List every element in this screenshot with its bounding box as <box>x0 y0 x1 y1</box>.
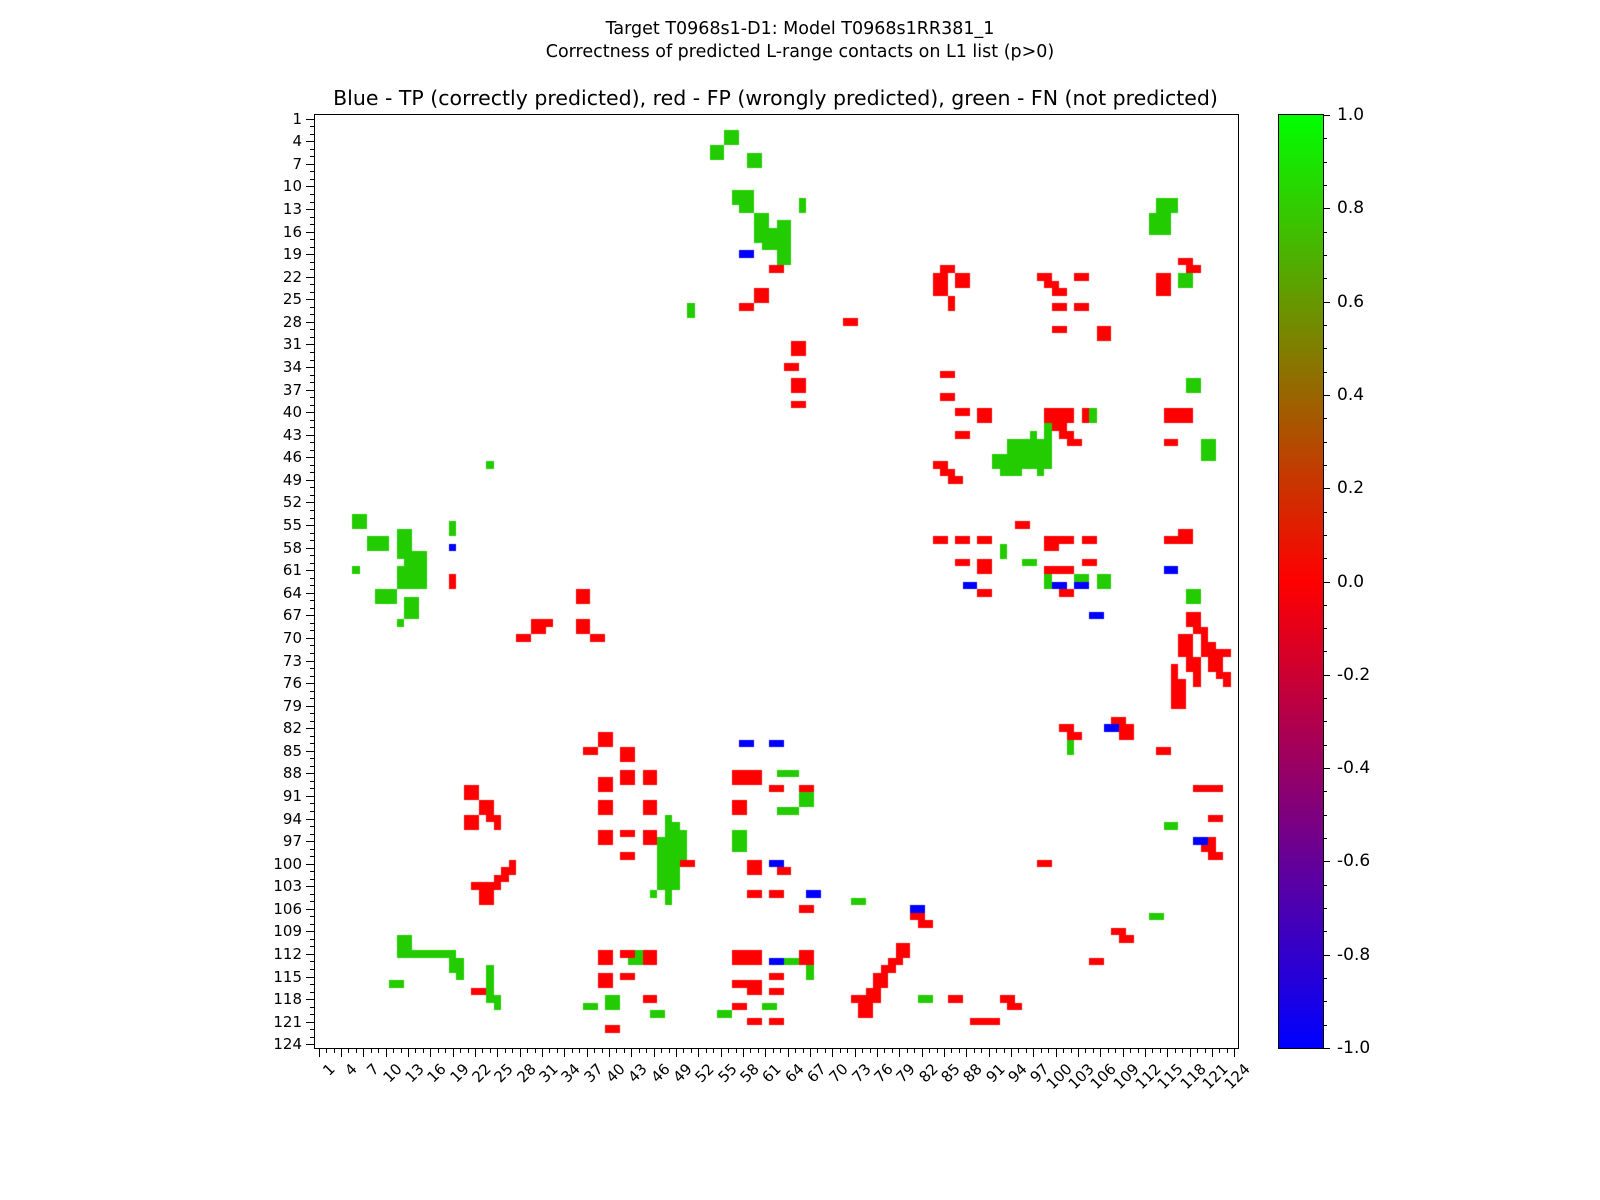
colorbar-minor-tick <box>1323 791 1327 792</box>
y-axis-tick <box>310 766 315 767</box>
x-axis-tick <box>616 1048 617 1053</box>
y-axis-tick <box>310 307 315 308</box>
y-axis-tick <box>306 886 315 887</box>
x-axis-tick <box>594 1048 595 1053</box>
x-axis-tick <box>899 1048 900 1057</box>
y-axis-tick-label: 121 <box>273 1013 302 1031</box>
y-axis-tick <box>310 156 315 157</box>
colorbar-minor-tick <box>1323 721 1327 722</box>
y-axis-tick-label: 103 <box>273 877 302 895</box>
colorbar-tick-label: -0.8 <box>1337 945 1370 965</box>
x-axis-tick <box>624 1048 625 1053</box>
colorbar-tick <box>1323 488 1330 489</box>
y-axis-tick <box>306 638 315 639</box>
y-axis-tick <box>310 758 315 759</box>
x-axis-tick <box>728 1048 729 1053</box>
x-axis-tick <box>713 1048 714 1053</box>
colorbar-tick-label: -1.0 <box>1337 1038 1370 1058</box>
colorbar-minor-tick <box>1323 185 1327 186</box>
x-axis-tick <box>959 1048 960 1053</box>
x-axis-tick <box>401 1048 402 1053</box>
x-axis-tick <box>862 1048 863 1053</box>
x-axis-tick <box>549 1048 550 1053</box>
y-axis-tick <box>310 465 315 466</box>
colorbar-minor-tick <box>1323 1025 1327 1026</box>
y-axis-tick <box>306 480 315 481</box>
y-axis-tick <box>306 683 315 684</box>
x-axis-tick <box>922 1048 923 1057</box>
colorbar-minor-tick <box>1323 535 1327 536</box>
colorbar-minor-tick <box>1323 908 1327 909</box>
x-axis-tick <box>579 1048 580 1053</box>
y-axis-tick <box>310 314 315 315</box>
x-axis-tick <box>639 1048 640 1053</box>
x-axis-tick <box>408 1048 409 1057</box>
x-axis-tick <box>929 1048 930 1053</box>
colorbar-minor-tick <box>1323 512 1327 513</box>
x-axis-tick <box>1115 1048 1116 1053</box>
x-axis-tick <box>1152 1048 1153 1053</box>
x-axis-tick <box>736 1048 737 1053</box>
figure-title: Target T0968s1-D1: Model T0968s1RR381_1 … <box>0 18 1600 64</box>
y-axis-tick-label: 19 <box>283 245 302 263</box>
y-axis-tick <box>310 788 315 789</box>
x-axis-tick <box>564 1048 565 1057</box>
y-axis-tick <box>310 713 315 714</box>
x-axis-tick <box>698 1048 699 1057</box>
colorbar-minor-tick <box>1323 745 1327 746</box>
x-axis-tick <box>1167 1048 1168 1057</box>
colorbar-tick-label: -0.4 <box>1337 758 1370 778</box>
y-axis-tick <box>306 457 315 458</box>
y-axis-tick <box>306 570 315 571</box>
colorbar-minor-tick <box>1323 255 1327 256</box>
colorbar-tick-label: 0.2 <box>1337 478 1364 498</box>
y-axis-tick <box>310 901 315 902</box>
x-axis-tick <box>423 1048 424 1053</box>
x-axis-tick <box>490 1048 491 1053</box>
y-axis-tick-label: 46 <box>283 448 302 466</box>
colorbar: 1.00.80.60.40.20.0-0.2-0.4-0.6-0.8-1.0 <box>1278 114 1324 1049</box>
y-axis-tick-label: 82 <box>283 719 302 737</box>
colorbar-minor-tick <box>1323 931 1327 932</box>
colorbar-tick <box>1323 302 1330 303</box>
y-axis-tick <box>310 487 315 488</box>
x-axis-tick <box>1123 1048 1124 1057</box>
y-axis-tick-label: 58 <box>283 539 302 557</box>
y-axis-tick <box>310 856 315 857</box>
y-axis-tick <box>310 292 315 293</box>
y-axis-tick-label: 100 <box>273 855 302 873</box>
y-axis-tick <box>306 751 315 752</box>
x-axis-tick <box>892 1048 893 1053</box>
y-axis-tick <box>310 668 315 669</box>
y-axis-tick <box>310 698 315 699</box>
axes-legend-title: Blue - TP (correctly predicted), red - F… <box>314 86 1237 110</box>
y-axis-tick-label: 52 <box>283 493 302 511</box>
x-axis-tick <box>721 1048 722 1057</box>
x-axis-tick <box>1205 1048 1206 1053</box>
y-axis-tick-label: 4 <box>292 132 302 150</box>
x-axis-tick <box>542 1048 543 1057</box>
colorbar-minor-tick <box>1323 815 1327 816</box>
y-axis-tick-label: 1 <box>292 110 302 128</box>
y-axis-tick <box>310 803 315 804</box>
y-axis-tick <box>310 382 315 383</box>
colorbar-tick-label: 0.6 <box>1337 292 1364 312</box>
y-axis-tick-label: 88 <box>283 764 302 782</box>
colorbar-minor-tick <box>1323 465 1327 466</box>
contact-map-canvas <box>315 115 1238 1048</box>
x-axis-tick <box>371 1048 372 1053</box>
y-axis-tick <box>310 126 315 127</box>
x-axis-tick <box>1048 1048 1049 1053</box>
colorbar-tick <box>1323 395 1330 396</box>
colorbar-minor-tick <box>1323 278 1327 279</box>
x-axis-tick <box>981 1048 982 1053</box>
y-axis-tick <box>306 819 315 820</box>
y-axis-tick-label: 91 <box>283 787 302 805</box>
x-axis-tick <box>691 1048 692 1053</box>
colorbar-tick <box>1323 861 1330 862</box>
x-axis-tick <box>1145 1048 1146 1057</box>
x-axis-tick <box>907 1048 908 1053</box>
colorbar-minor-tick <box>1323 698 1327 699</box>
x-axis-tick <box>832 1048 833 1057</box>
y-axis-tick-label: 64 <box>283 584 302 602</box>
y-axis-tick <box>306 367 315 368</box>
x-axis-tick <box>1130 1048 1131 1053</box>
y-axis-tick <box>306 909 315 910</box>
x-axis-tick <box>348 1048 349 1053</box>
colorbar-minor-tick <box>1323 372 1327 373</box>
x-axis-tick <box>1063 1048 1064 1053</box>
x-axis-tick <box>1004 1048 1005 1053</box>
y-axis-tick <box>310 1007 315 1008</box>
y-axis-tick-label: 118 <box>273 990 302 1008</box>
y-axis-tick <box>310 224 315 225</box>
x-axis-tick <box>654 1048 655 1057</box>
contact-map-figure: Target T0968s1-D1: Model T0968s1RR381_1 … <box>0 0 1600 1200</box>
y-axis-tick <box>310 826 315 827</box>
colorbar-minor-tick <box>1323 605 1327 606</box>
x-axis-tick <box>468 1048 469 1053</box>
y-axis-tick-label: 67 <box>283 606 302 624</box>
y-axis-tick <box>310 247 315 248</box>
y-axis-tick-label: 115 <box>273 968 302 986</box>
x-axis-tick <box>356 1048 357 1053</box>
y-axis-tick-label: 16 <box>283 223 302 241</box>
x-axis-tick <box>1160 1048 1161 1053</box>
x-axis-tick <box>810 1048 811 1057</box>
x-axis-tick <box>1227 1048 1228 1053</box>
x-axis-tick <box>966 1048 967 1057</box>
x-axis-tick <box>587 1048 588 1057</box>
y-axis-tick-label: 97 <box>283 832 302 850</box>
x-axis-tick <box>341 1048 342 1057</box>
y-axis-tick <box>310 284 315 285</box>
x-axis-tick-label: 1 <box>319 1060 338 1079</box>
x-axis-tick <box>1182 1048 1183 1053</box>
y-axis-tick <box>306 344 315 345</box>
y-axis-tick <box>310 134 315 135</box>
x-axis-tick <box>840 1048 841 1053</box>
y-axis-tick <box>310 721 315 722</box>
x-axis-tick-label: 124 <box>1221 1060 1254 1093</box>
y-axis-tick-label: 70 <box>283 629 302 647</box>
y-axis-tick <box>310 1014 315 1015</box>
x-axis-tick <box>527 1048 528 1053</box>
x-axis-tick <box>937 1048 938 1053</box>
y-axis-tick <box>306 141 315 142</box>
colorbar-minor-tick <box>1323 232 1327 233</box>
x-axis-tick <box>847 1048 848 1053</box>
y-axis-tick <box>306 209 315 210</box>
x-axis-tick <box>683 1048 684 1053</box>
y-axis-tick <box>310 1037 315 1038</box>
y-axis-tick <box>310 992 315 993</box>
x-axis-tick <box>378 1048 379 1053</box>
y-axis-tick <box>310 450 315 451</box>
y-axis-tick-label: 25 <box>283 290 302 308</box>
y-axis-tick-label: 49 <box>283 471 302 489</box>
y-axis-tick <box>310 420 315 421</box>
y-axis-tick <box>310 916 315 917</box>
y-axis-tick <box>310 781 315 782</box>
y-axis-tick <box>310 262 315 263</box>
colorbar-tick <box>1323 208 1330 209</box>
y-axis-tick-label: 73 <box>283 652 302 670</box>
y-axis-tick <box>310 600 315 601</box>
x-axis-tick <box>750 1048 751 1053</box>
x-axis-tick <box>1026 1048 1027 1053</box>
x-axis-tick <box>1011 1048 1012 1057</box>
y-axis-tick <box>310 623 315 624</box>
colorbar-minor-tick <box>1323 558 1327 559</box>
colorbar-gradient <box>1279 115 1323 1048</box>
x-axis-tick <box>393 1048 394 1053</box>
y-axis-tick <box>310 337 315 338</box>
y-axis-tick <box>306 1044 315 1045</box>
y-axis-tick-label: 22 <box>283 268 302 286</box>
x-axis-tick <box>557 1048 558 1053</box>
y-axis-tick <box>306 977 315 978</box>
colorbar-minor-tick <box>1323 978 1327 979</box>
x-axis-tick <box>884 1048 885 1053</box>
y-axis-tick-label: 28 <box>283 313 302 331</box>
colorbar-minor-tick <box>1323 838 1327 839</box>
y-axis-tick <box>310 533 315 534</box>
y-axis-tick <box>310 879 315 880</box>
y-axis-tick <box>310 405 315 406</box>
x-axis-tick <box>773 1048 774 1053</box>
x-axis-tick <box>795 1048 796 1053</box>
y-axis-tick-label: 124 <box>273 1035 302 1053</box>
y-axis-tick <box>310 518 315 519</box>
y-axis-tick <box>306 1022 315 1023</box>
x-axis-tick <box>765 1048 766 1057</box>
x-axis-tick <box>1085 1048 1086 1053</box>
y-axis-tick <box>310 555 315 556</box>
y-axis-tick-label: 61 <box>283 561 302 579</box>
y-axis-tick <box>310 743 315 744</box>
x-axis-tick <box>1212 1048 1213 1057</box>
y-axis-tick <box>310 352 315 353</box>
y-axis-tick-label: 31 <box>283 335 302 353</box>
x-axis-tick <box>951 1048 952 1053</box>
colorbar-tick-label: 0.0 <box>1337 572 1364 592</box>
x-axis-tick-label: 7 <box>364 1060 383 1079</box>
y-axis-tick-label: 37 <box>283 381 302 399</box>
y-axis-tick-label: 109 <box>273 922 302 940</box>
x-axis-tick <box>803 1048 804 1053</box>
x-axis-tick <box>758 1048 759 1053</box>
y-axis-tick <box>310 194 315 195</box>
colorbar-tick-label: 1.0 <box>1337 105 1364 125</box>
y-axis-tick-label: 34 <box>283 358 302 376</box>
x-axis-tick <box>788 1048 789 1057</box>
y-axis-tick <box>310 969 315 970</box>
x-axis-tick <box>334 1048 335 1053</box>
x-axis-tick <box>438 1048 439 1053</box>
y-axis-tick-label: 7 <box>292 155 302 173</box>
y-axis-tick <box>306 254 315 255</box>
y-axis-tick <box>310 472 315 473</box>
x-axis-tick <box>386 1048 387 1057</box>
y-axis-tick-label: 79 <box>283 697 302 715</box>
y-axis-tick <box>310 630 315 631</box>
colorbar-minor-tick <box>1323 418 1327 419</box>
x-axis-tick <box>1078 1048 1079 1057</box>
x-axis-tick <box>1219 1048 1220 1053</box>
x-axis-tick <box>669 1048 670 1053</box>
y-axis-tick-label: 106 <box>273 900 302 918</box>
y-axis-tick <box>306 954 315 955</box>
colorbar-tick-label: -0.6 <box>1337 851 1370 871</box>
figure-title-line1: Target T0968s1-D1: Model T0968s1RR381_1 <box>0 18 1600 41</box>
x-axis-tick <box>520 1048 521 1057</box>
x-axis-tick <box>535 1048 536 1053</box>
y-axis-tick <box>306 525 315 526</box>
x-axis-tick <box>646 1048 647 1053</box>
y-axis-tick-label: 43 <box>283 426 302 444</box>
x-axis-tick <box>363 1048 364 1057</box>
y-axis-tick <box>306 615 315 616</box>
y-axis-tick-label: 13 <box>283 200 302 218</box>
x-axis-tick <box>780 1048 781 1053</box>
colorbar-tick <box>1323 768 1330 769</box>
x-axis-tick <box>974 1048 975 1053</box>
colorbar-minor-tick <box>1323 885 1327 886</box>
x-axis-tick <box>415 1048 416 1053</box>
y-axis-tick <box>310 563 315 564</box>
colorbar-minor-tick <box>1323 442 1327 443</box>
y-axis-tick <box>310 736 315 737</box>
y-axis-tick <box>310 375 315 376</box>
y-axis-tick <box>310 217 315 218</box>
y-axis-tick <box>310 1029 315 1030</box>
y-axis-tick <box>306 661 315 662</box>
y-axis-tick <box>310 871 315 872</box>
colorbar-tick <box>1323 115 1330 116</box>
x-axis-tick <box>855 1048 856 1057</box>
y-axis-tick <box>306 277 315 278</box>
y-axis-tick <box>310 984 315 985</box>
x-axis-tick <box>944 1048 945 1057</box>
y-axis-tick <box>306 864 315 865</box>
x-axis-tick <box>1100 1048 1101 1057</box>
x-axis-tick-label: 4 <box>341 1060 360 1079</box>
colorbar-minor-tick <box>1323 325 1327 326</box>
y-axis-tick-label: 112 <box>273 945 302 963</box>
x-axis-tick <box>914 1048 915 1053</box>
y-axis-tick <box>310 653 315 654</box>
x-axis-tick <box>326 1048 327 1053</box>
x-axis-tick <box>460 1048 461 1053</box>
y-axis-tick <box>310 442 315 443</box>
y-axis-tick-label: 76 <box>283 674 302 692</box>
y-axis-tick <box>310 397 315 398</box>
y-axis-tick <box>310 179 315 180</box>
y-axis-tick <box>310 360 315 361</box>
y-axis-tick <box>310 269 315 270</box>
contact-map-plot-area[interactable]: 1471013161922252831343740434649525558616… <box>314 114 1239 1049</box>
y-axis-tick <box>310 171 315 172</box>
x-axis-tick <box>1234 1048 1235 1057</box>
y-axis-tick <box>310 849 315 850</box>
x-axis-tick <box>996 1048 997 1053</box>
y-axis-tick-label: 40 <box>283 403 302 421</box>
y-axis-tick-label: 55 <box>283 516 302 534</box>
x-axis-tick <box>609 1048 610 1057</box>
y-axis-tick <box>306 593 315 594</box>
x-axis-tick <box>870 1048 871 1053</box>
x-axis-tick <box>430 1048 431 1057</box>
x-axis-tick <box>475 1048 476 1057</box>
colorbar-minor-tick <box>1323 162 1327 163</box>
x-axis-tick <box>512 1048 513 1053</box>
y-axis-tick <box>306 390 315 391</box>
y-axis-tick <box>310 894 315 895</box>
colorbar-minor-tick <box>1323 651 1327 652</box>
y-axis-tick-label: 10 <box>283 177 302 195</box>
y-axis-tick <box>310 202 315 203</box>
x-axis-tick <box>1056 1048 1057 1057</box>
y-axis-tick <box>306 728 315 729</box>
x-axis-tick <box>661 1048 662 1053</box>
x-axis-tick <box>1197 1048 1198 1053</box>
colorbar-minor-tick <box>1323 1001 1327 1002</box>
y-axis-tick <box>306 435 315 436</box>
y-axis-tick <box>306 502 315 503</box>
colorbar-tick <box>1323 582 1330 583</box>
colorbar-minor-tick <box>1323 628 1327 629</box>
x-axis-tick <box>572 1048 573 1053</box>
y-axis-tick <box>310 329 315 330</box>
colorbar-minor-tick <box>1323 138 1327 139</box>
y-axis-tick-label: 85 <box>283 742 302 760</box>
y-axis-tick <box>306 548 315 549</box>
y-axis-tick <box>310 961 315 962</box>
y-axis-tick <box>310 239 315 240</box>
colorbar-tick-label: -0.2 <box>1337 665 1370 685</box>
x-axis-tick <box>817 1048 818 1053</box>
x-axis-tick <box>825 1048 826 1053</box>
y-axis-tick <box>310 939 315 940</box>
y-axis-tick <box>310 510 315 511</box>
x-axis-tick <box>706 1048 707 1053</box>
x-axis-tick <box>1190 1048 1191 1057</box>
